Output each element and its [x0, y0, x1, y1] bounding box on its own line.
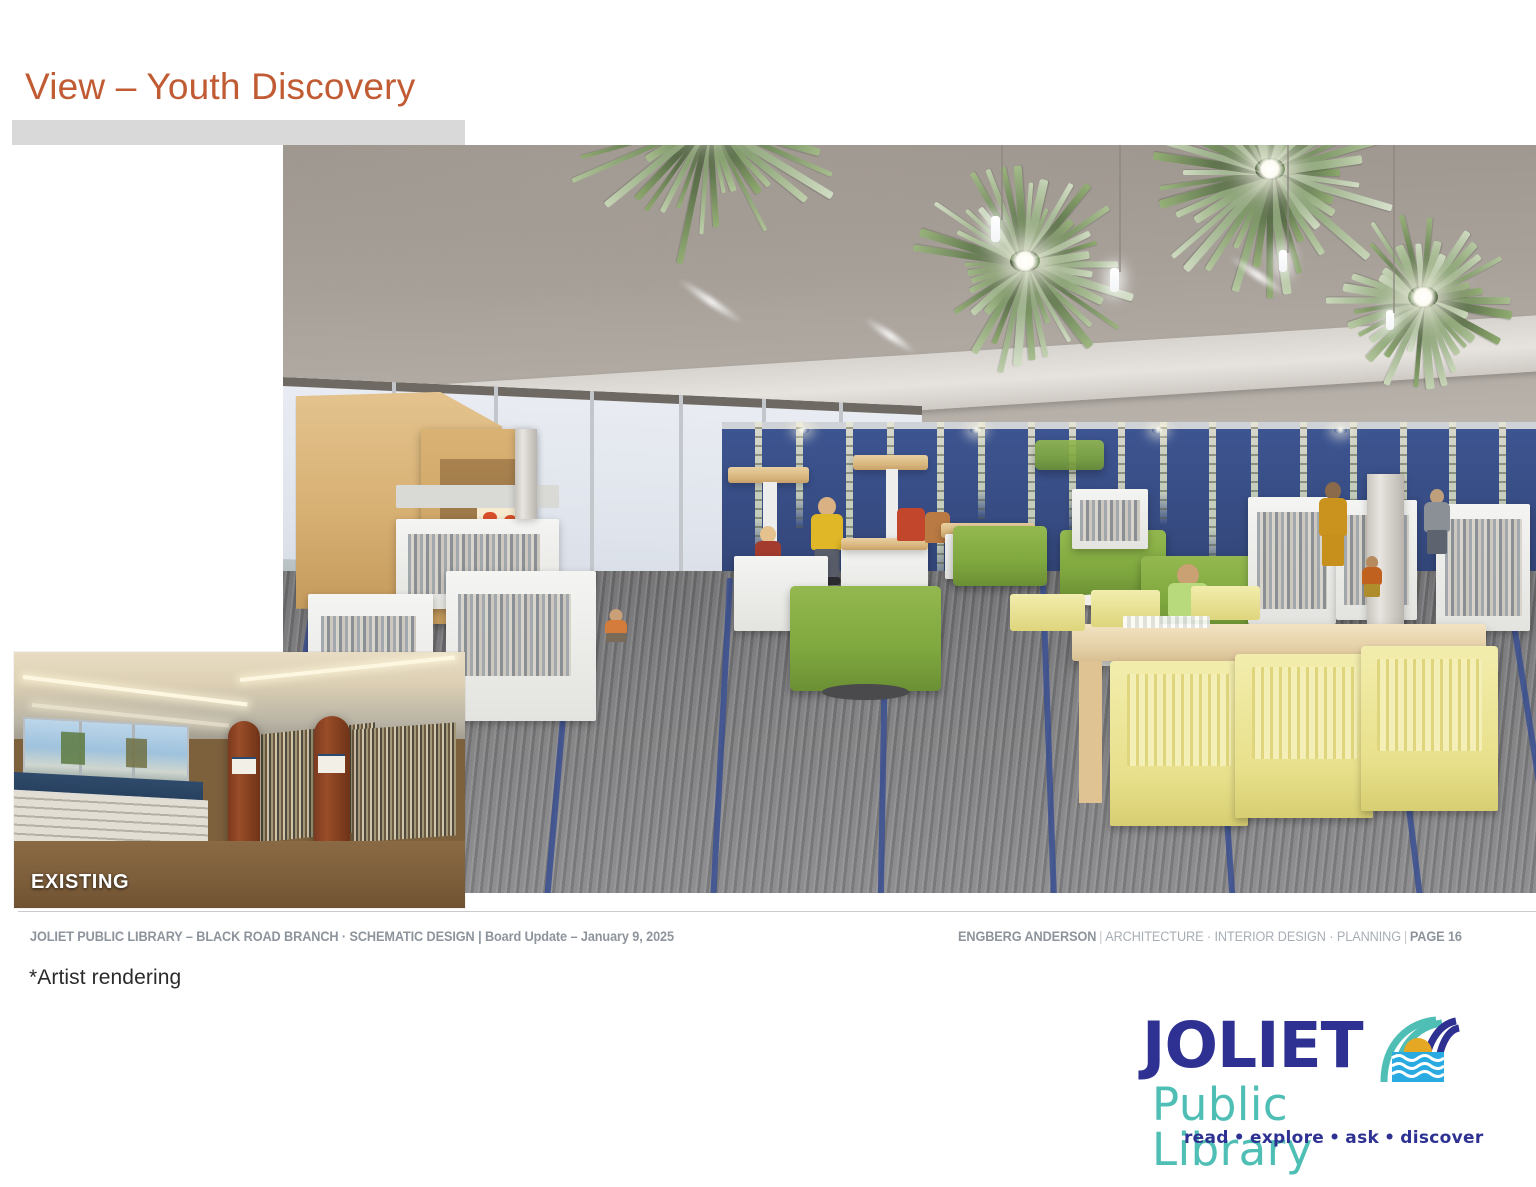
existing-badge: EXISTING	[31, 871, 129, 894]
carpet-accent-stripe	[1509, 611, 1536, 893]
child-figure	[1361, 556, 1383, 598]
joliet-public-library-logo: JOLIET Public Library read•explore•ask•d…	[1142, 1014, 1460, 1144]
yellow-chair-back	[1191, 586, 1260, 620]
plush-toy	[897, 508, 925, 542]
pendant-light-tube	[1110, 268, 1119, 292]
wall-top-trim	[722, 422, 1536, 429]
ceiling-downlight	[970, 426, 983, 434]
footer-firm-name: ENGBERG ANDERSON	[958, 929, 1096, 944]
logo-tagline-dot: •	[1229, 1128, 1250, 1148]
birch-graphic	[1160, 422, 1167, 525]
page-title: View – Youth Discovery	[25, 66, 415, 108]
existing-book-stacks	[352, 723, 456, 843]
ceiling-downlight	[1152, 426, 1165, 434]
pendant-stem	[1287, 145, 1289, 253]
existing-wood-column	[228, 721, 260, 852]
title-underline-bar	[12, 120, 465, 145]
pendant-stem	[1393, 145, 1395, 313]
book-row	[458, 594, 571, 676]
footer-services: ARCHITECTURE · INTERIOR DESIGN · PLANNIN…	[1105, 929, 1401, 944]
yellow-chair	[1361, 646, 1499, 811]
child-figure	[603, 609, 629, 643]
structural-column	[515, 429, 538, 519]
pendant-stem	[1119, 145, 1121, 272]
yellow-chair	[1110, 661, 1248, 826]
logo-tagline-dot: •	[1324, 1128, 1345, 1148]
logo-tagline-word: explore	[1250, 1128, 1324, 1148]
footer-firm-credit: ENGBERG ANDERSON|ARCHITECTURE · INTERIOR…	[958, 929, 1462, 944]
book-row	[1080, 500, 1140, 541]
artist-rendering-note: *Artist rendering	[29, 966, 181, 990]
adult-figure	[1317, 482, 1349, 568]
carpet-accent-stripe	[710, 578, 733, 893]
footer-divider	[18, 911, 1536, 912]
birch-graphic	[978, 422, 985, 519]
main-rendering-image	[283, 145, 1536, 893]
logo-tagline-word: read	[1184, 1128, 1229, 1148]
logo-tagline: read•explore•ask•discover	[1184, 1128, 1484, 1148]
green-lounge-chair	[1035, 440, 1104, 470]
logo-tagline-dot: •	[1379, 1128, 1400, 1148]
birch-graphic	[1209, 422, 1216, 578]
adult-figure	[1423, 489, 1451, 555]
table-activity-items	[1123, 616, 1211, 628]
pendant-light-tube	[991, 216, 1000, 242]
logo-subtitle: Public Library	[1152, 1082, 1460, 1172]
yellow-chair	[1235, 654, 1373, 819]
existing-photo: EXISTING	[14, 652, 465, 908]
pendant-stem	[1001, 145, 1003, 220]
table-leg	[1079, 661, 1103, 803]
rendering-scene	[283, 145, 1536, 893]
green-lounge-chair	[953, 526, 1047, 586]
yellow-chair-back	[1010, 594, 1085, 631]
book-row	[1445, 519, 1523, 616]
green-lounge-chair	[790, 586, 940, 691]
footer-separator: |	[1401, 929, 1410, 944]
logo-tagline-word: ask	[1345, 1128, 1379, 1148]
logo-wordmark: JOLIET	[1142, 1014, 1363, 1077]
logo-tagline-word: discover	[1400, 1128, 1483, 1148]
footer-page-number: PAGE 16	[1410, 929, 1462, 944]
ceiling-downlight	[1334, 426, 1347, 434]
existing-wood-column	[314, 716, 350, 854]
ceiling-downlight	[796, 426, 809, 434]
existing-shelf-sign	[232, 757, 255, 774]
footer-separator: |	[1096, 929, 1105, 944]
chair-base	[822, 684, 910, 700]
existing-shelf-sign	[318, 754, 345, 773]
footer-project-info: JOLIET PUBLIC LIBRARY – BLACK ROAD BRANC…	[30, 929, 674, 944]
bridge-sun-water-icon	[1380, 1016, 1460, 1084]
